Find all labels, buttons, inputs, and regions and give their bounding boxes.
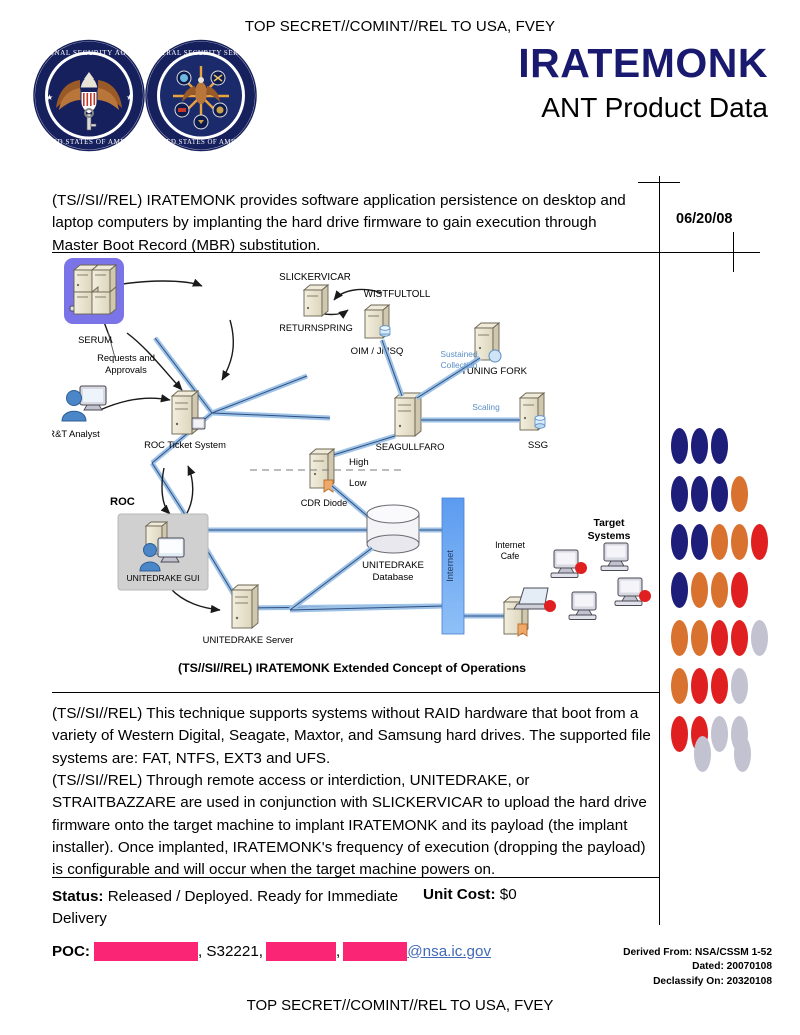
crop-mark-right bbox=[733, 232, 734, 272]
ant-oval bbox=[731, 668, 748, 704]
dated-line: Dated: 20070108 bbox=[623, 960, 772, 974]
svg-text:UNITEDRAKE: UNITEDRAKE bbox=[362, 560, 424, 571]
svg-text:Sustained: Sustained bbox=[440, 349, 478, 359]
svg-text:UNITED STATES OF AMERICA: UNITED STATES OF AMERICA bbox=[148, 139, 254, 146]
css-seal-icon: CENTRAL SECURITY SERVICE UNITED STATES O… bbox=[142, 38, 260, 153]
concept-of-operations-diagram: R&T Analyst SERUM bbox=[52, 258, 652, 658]
body-rule-top bbox=[52, 692, 660, 693]
nsa-seal-icon: NATIONAL SECURITY AGENCY UNITED STATES O… bbox=[30, 38, 148, 153]
svg-text:Approvals: Approvals bbox=[105, 364, 147, 375]
title-block: IRATEMONK ANT Product Data bbox=[518, 42, 768, 124]
ant-oval bbox=[711, 668, 728, 704]
ant-oval bbox=[671, 620, 688, 656]
ant-oval bbox=[671, 524, 688, 560]
svg-text:OIM / JMSQ: OIM / JMSQ bbox=[351, 346, 404, 357]
svg-text:SERUM: SERUM bbox=[78, 334, 112, 345]
body-paragraph-2: (TS//SI//REL) Through remote access or i… bbox=[52, 770, 652, 882]
svg-text:WISTFULTOLL: WISTFULTOLL bbox=[364, 289, 431, 300]
svg-text:★: ★ bbox=[46, 93, 53, 102]
svg-text:Requests and: Requests and bbox=[97, 352, 155, 363]
redaction-bar-email-user bbox=[343, 942, 407, 961]
svg-text:SSG: SSG bbox=[528, 440, 548, 451]
svg-text:Internet: Internet bbox=[444, 550, 455, 582]
poc-separator-1: , S32221, bbox=[198, 943, 263, 960]
svg-text:Scaling: Scaling bbox=[472, 402, 500, 412]
ant-oval bbox=[691, 524, 708, 560]
ant-oval bbox=[691, 620, 708, 656]
page-title: IRATEMONK bbox=[518, 42, 768, 85]
svg-text:Database: Database bbox=[372, 572, 413, 583]
ant-oval bbox=[711, 476, 728, 512]
svg-text:★: ★ bbox=[126, 93, 133, 102]
svg-text:ROC Ticket System: ROC Ticket System bbox=[144, 439, 226, 450]
ant-oval bbox=[711, 428, 728, 464]
svg-text:Target: Target bbox=[594, 518, 626, 529]
ant-oval bbox=[691, 476, 708, 512]
svg-text:Cafe: Cafe bbox=[501, 551, 520, 561]
svg-text:Low: Low bbox=[349, 478, 367, 489]
svg-text:SEAGULLFARO: SEAGULLFARO bbox=[376, 441, 445, 452]
status-line: Status: Released / Deployed. Ready for I… bbox=[52, 886, 412, 930]
ant-decoration-pattern bbox=[668, 428, 794, 778]
unit-cost-value: $0 bbox=[500, 886, 517, 903]
ant-oval bbox=[731, 572, 748, 608]
poc-label: POC: bbox=[52, 943, 90, 960]
ant-oval bbox=[711, 524, 728, 560]
ant-oval bbox=[671, 716, 688, 752]
svg-text:ROC: ROC bbox=[110, 496, 135, 508]
ant-oval bbox=[751, 524, 768, 560]
svg-text:UNITED STATES OF AMERICA: UNITED STATES OF AMERICA bbox=[34, 138, 145, 146]
status-value: Released / Deployed. Ready for Immediate… bbox=[52, 888, 398, 927]
ant-oval bbox=[671, 428, 688, 464]
ant-oval bbox=[711, 716, 728, 752]
ant-oval bbox=[711, 620, 728, 656]
unit-cost: Unit Cost: $0 bbox=[423, 886, 517, 903]
declassify-line: Declassify On: 20320108 bbox=[623, 975, 772, 989]
status-label: Status: bbox=[52, 888, 103, 905]
crop-mark-top bbox=[638, 182, 680, 183]
svg-text:Internet: Internet bbox=[495, 540, 525, 550]
ant-oval bbox=[671, 572, 688, 608]
svg-text:CDR Diode: CDR Diode bbox=[301, 498, 347, 508]
ant-oval bbox=[691, 668, 708, 704]
svg-text:SLICKERVICAR: SLICKERVICAR bbox=[279, 272, 351, 283]
redaction-bar-phone bbox=[266, 942, 336, 961]
page-subtitle: ANT Product Data bbox=[518, 93, 768, 124]
svg-text:UNITEDRAKE Server: UNITEDRAKE Server bbox=[203, 634, 294, 645]
ant-oval bbox=[691, 572, 708, 608]
intro-paragraph: (TS//SI//REL) IRATEMONK provides softwar… bbox=[52, 190, 630, 257]
classification-banner-bottom: TOP SECRET//COMINT//REL TO USA, FVEY bbox=[0, 997, 800, 1014]
svg-text:RETURNSPRING: RETURNSPRING bbox=[279, 323, 353, 333]
poc-line: POC: , S32221, , @nsa.ic.gov bbox=[52, 940, 491, 962]
ant-oval bbox=[731, 620, 748, 656]
body-paragraph-1: (TS//SI//REL) This technique supports sy… bbox=[52, 703, 652, 770]
date-stamp: 06/20/08 bbox=[676, 211, 732, 227]
ant-oval bbox=[731, 524, 748, 560]
agency-seals: NATIONAL SECURITY AGENCY UNITED STATES O… bbox=[30, 38, 275, 153]
classification-banner-top: TOP SECRET//COMINT//REL TO USA, FVEY bbox=[0, 18, 800, 35]
ant-oval bbox=[691, 428, 708, 464]
svg-text:R&T Analyst: R&T Analyst bbox=[52, 428, 100, 439]
diagram-caption: (TS//SI//REL) IRATEMONK Extended Concept… bbox=[52, 661, 652, 675]
ant-oval bbox=[711, 572, 728, 608]
svg-text:CENTRAL SECURITY SERVICE: CENTRAL SECURITY SERVICE bbox=[146, 49, 256, 57]
ant-oval bbox=[671, 668, 688, 704]
ant-oval bbox=[671, 476, 688, 512]
svg-text:Collection: Collection bbox=[441, 360, 478, 370]
ant-oval bbox=[694, 736, 711, 772]
svg-text:NATIONAL SECURITY AGENCY: NATIONAL SECURITY AGENCY bbox=[30, 49, 148, 57]
derived-from-block: Derived From: NSA/CSSM 1-52 Dated: 20070… bbox=[623, 946, 772, 989]
right-column-divider bbox=[659, 176, 660, 925]
derived-from-line: Derived From: NSA/CSSM 1-52 bbox=[623, 946, 772, 960]
unit-cost-label: Unit Cost: bbox=[423, 886, 496, 903]
svg-text:Systems: Systems bbox=[588, 531, 631, 542]
ant-oval bbox=[731, 476, 748, 512]
ant-oval bbox=[734, 736, 751, 772]
redaction-bar-name bbox=[94, 942, 198, 961]
poc-email-domain[interactable]: @nsa.ic.gov bbox=[407, 943, 491, 960]
svg-text:UNITEDRAKE GUI: UNITEDRAKE GUI bbox=[126, 573, 199, 583]
svg-text:High: High bbox=[349, 457, 369, 468]
poc-separator-2: , bbox=[336, 943, 340, 960]
ant-oval bbox=[751, 620, 768, 656]
